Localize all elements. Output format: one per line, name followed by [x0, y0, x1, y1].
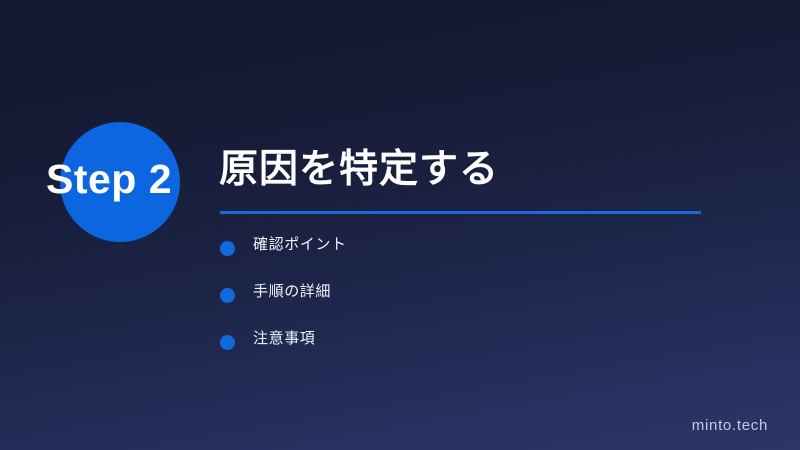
bullet-dot-icon — [220, 241, 235, 256]
bullet-dot-icon — [220, 288, 235, 303]
step-label: Step 2 — [46, 154, 216, 204]
list-item-label: 手順の詳細 — [253, 281, 331, 303]
slide-canvas: Step 2 原因を特定する 確認ポイント 手順の詳細 注意事項 minto.t… — [0, 0, 800, 450]
list-item: 確認ポイント — [220, 234, 680, 281]
list-item-label: 確認ポイント — [253, 234, 347, 256]
step-badge: Step 2 — [0, 118, 215, 238]
bullet-dot-icon — [220, 335, 235, 350]
page-title: 原因を特定する — [219, 147, 499, 193]
footer-branding: minto.tech — [692, 416, 768, 436]
list-item-label: 注意事項 — [253, 328, 315, 350]
title-divider — [220, 211, 701, 214]
bullet-list: 確認ポイント 手順の詳細 注意事項 — [220, 234, 680, 375]
list-item: 注意事項 — [220, 328, 680, 375]
list-item: 手順の詳細 — [220, 281, 680, 328]
